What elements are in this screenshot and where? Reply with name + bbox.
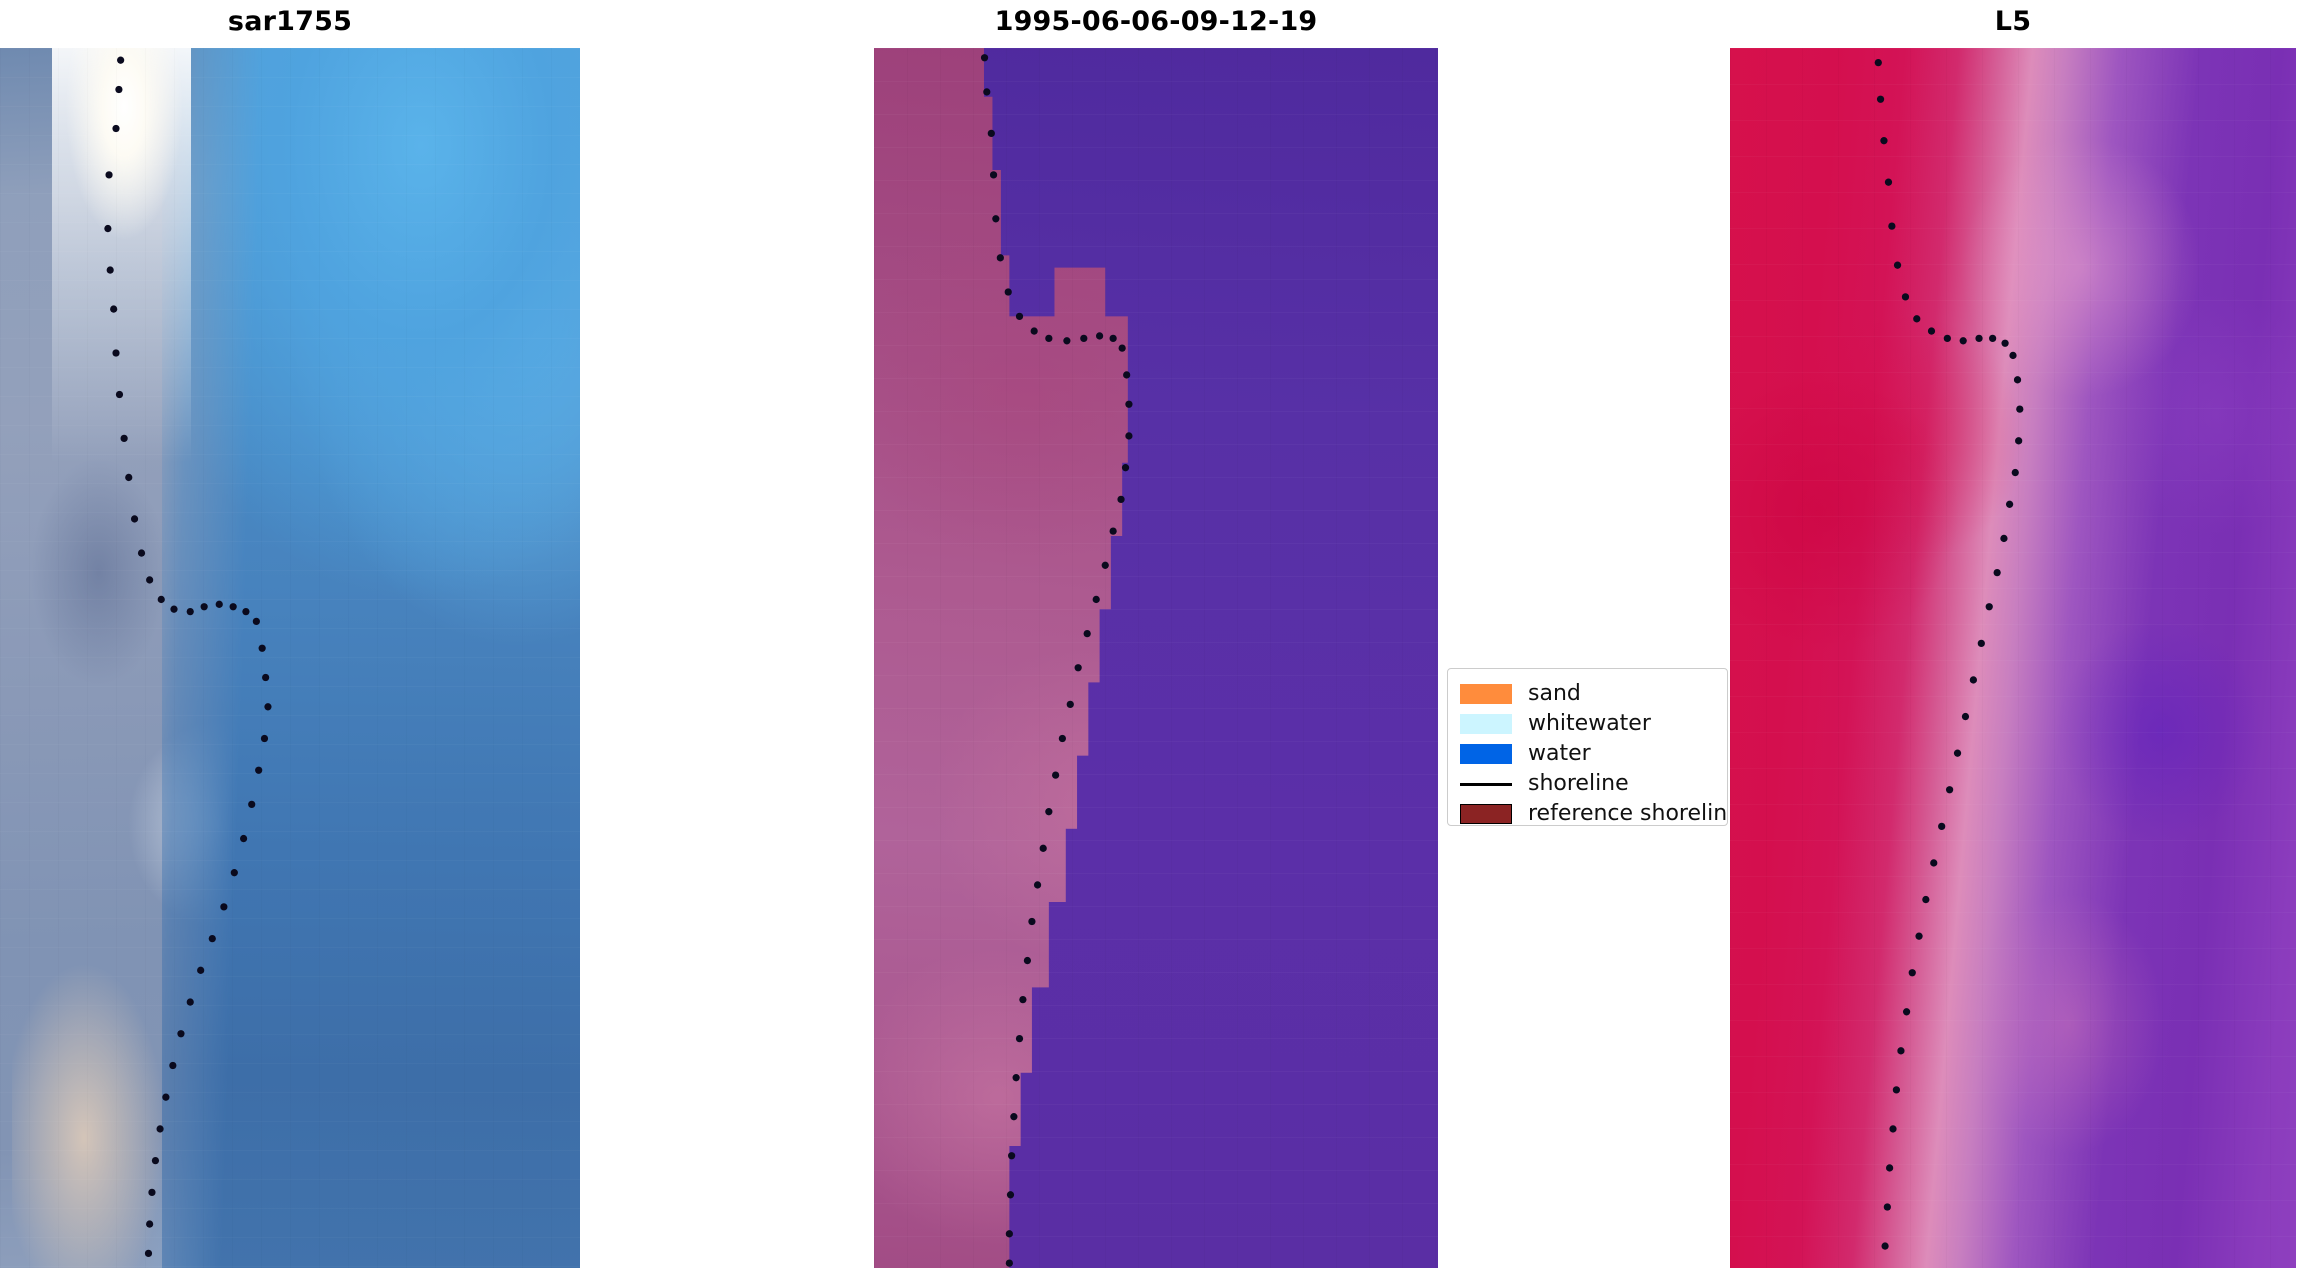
legend-label-water: water xyxy=(1528,743,1591,765)
legend-item-shoreline[interactable]: shoreline xyxy=(1460,769,1715,799)
legend-item-sand[interactable]: sand xyxy=(1460,679,1715,709)
l5-image xyxy=(1730,48,2296,1268)
reference-shoreline-buffer-swatch xyxy=(1460,804,1512,824)
classification-image xyxy=(874,48,1438,1268)
whitewater-swatch xyxy=(1460,714,1512,734)
l5-shoreline-overlay xyxy=(1730,48,2296,1268)
legend-item-whitewater[interactable]: whitewater xyxy=(1460,709,1715,739)
panel-title-sar1755: sar1755 xyxy=(0,0,580,44)
legend-label-shoreline: shoreline xyxy=(1528,773,1629,795)
legend-label-sand: sand xyxy=(1528,683,1581,705)
legend-item-reference-shoreline-buffer[interactable]: reference shoreline b xyxy=(1460,799,1715,826)
sar-image xyxy=(0,48,580,1268)
shoreline-line-swatch xyxy=(1460,783,1512,786)
legend-label-reference-shoreline-buffer: reference shoreline b xyxy=(1528,803,1728,825)
sand-swatch xyxy=(1460,684,1512,704)
legend-label-whitewater: whitewater xyxy=(1528,713,1651,735)
water-swatch xyxy=(1460,744,1512,764)
panel-title-l5: L5 xyxy=(1730,0,2296,44)
legend-item-water[interactable]: water xyxy=(1460,739,1715,769)
panel-title-classification: 1995-06-06-09-12-19 xyxy=(874,0,1438,44)
sar-shoreline-overlay xyxy=(0,48,580,1268)
legend-box[interactable]: sand whitewater water shoreline referenc… xyxy=(1447,668,1728,826)
classification-shoreline-overlay xyxy=(874,48,1438,1268)
classification-panel[interactable] xyxy=(874,48,1438,1268)
l5-panel[interactable] xyxy=(1730,48,2296,1268)
sar-panel[interactable] xyxy=(0,48,580,1268)
